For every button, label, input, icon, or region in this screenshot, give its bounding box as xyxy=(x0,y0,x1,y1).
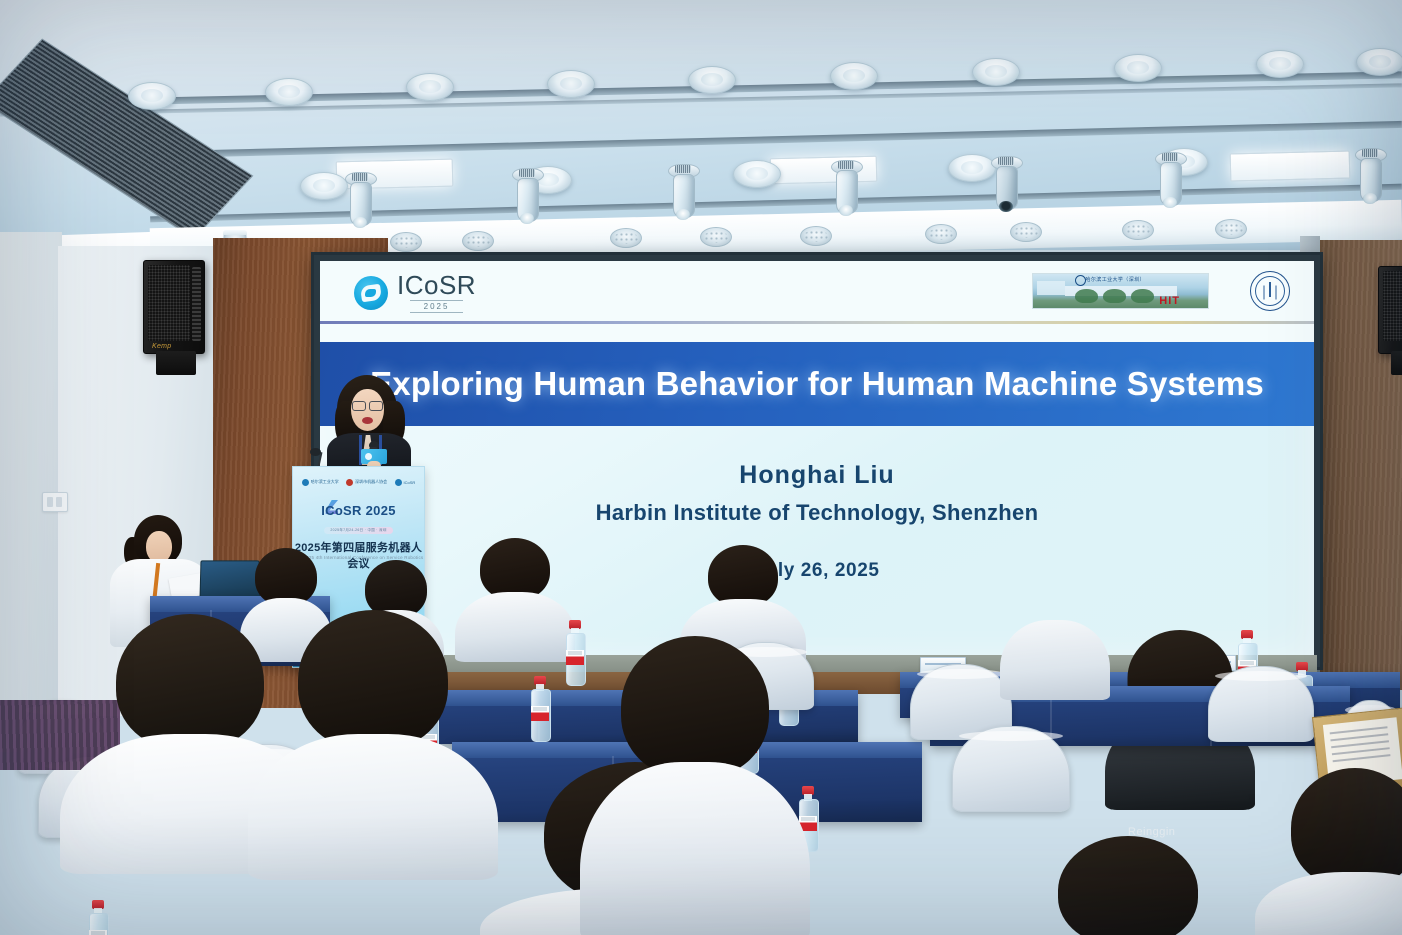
ceiling-speaker-icon xyxy=(1010,222,1042,242)
audience-person xyxy=(1008,836,1248,935)
microphone-icon xyxy=(310,448,321,456)
ceiling-speaker-icon xyxy=(462,231,494,251)
podium-logo-row: 哈尔滨工业大学 深圳市机器人协会 ICoSR xyxy=(298,475,419,489)
track-spotlight-icon xyxy=(991,156,1021,214)
downlight-icon xyxy=(972,58,1020,86)
chair-icon xyxy=(1208,666,1314,742)
downlight-icon xyxy=(830,62,878,90)
ceiling-speaker-icon xyxy=(925,224,957,244)
track-spotlight-icon xyxy=(345,172,375,230)
wall-speaker-left: Kemp xyxy=(143,260,205,354)
ceiling-speaker-icon xyxy=(700,227,732,247)
water-bottle-icon xyxy=(88,900,108,935)
podium-logo-item: 哈尔滨工业大学 xyxy=(302,479,339,486)
audience-person xyxy=(248,610,498,870)
track-spotlight-icon xyxy=(1155,152,1185,210)
icosr-logo-name: ICoSR xyxy=(397,272,476,298)
campus-banner-cn: 哈尔滨工业大学（深圳） xyxy=(1086,276,1145,283)
podium-logo-label: 哈尔滨工业大学 xyxy=(311,479,339,485)
ceiling-speaker-icon xyxy=(800,226,832,246)
podium-logo-item: ICoSR xyxy=(395,479,416,486)
downlight-icon xyxy=(733,160,781,188)
speaker-name: Honghai Liu xyxy=(320,461,1314,490)
slide-title-band: Exploring Human Behavior for Human Machi… xyxy=(320,342,1314,426)
icosr-logo-year: 2025 xyxy=(410,300,464,313)
slide-header-gap xyxy=(320,324,1314,342)
speaker-brand-label: Kemp xyxy=(152,343,172,350)
ceiling-speaker-icon xyxy=(1122,220,1154,240)
downlight-icon xyxy=(1356,48,1402,76)
downlight-icon xyxy=(300,172,348,200)
downlight-icon xyxy=(948,154,996,182)
track-spotlight-icon xyxy=(512,168,542,226)
conference-hall-photo: Kemp ICoSR 2025 xyxy=(0,0,1402,935)
audience-person xyxy=(1000,610,1110,700)
downlight-icon xyxy=(1256,50,1304,78)
podium-logo-label: ICoSR xyxy=(404,480,416,485)
downlight-icon xyxy=(688,66,736,94)
ceiling-speaker-icon xyxy=(1215,219,1247,239)
downlight-icon xyxy=(1114,54,1162,82)
podium-logo-label: 深圳市机器人协会 xyxy=(355,479,387,485)
podium-logo-item: 深圳市机器人协会 xyxy=(346,479,387,486)
glasses-icon xyxy=(352,401,383,409)
speaker-affiliation: Harbin Institute of Technology, Shenzhen xyxy=(320,500,1314,526)
track-spotlight-icon xyxy=(831,160,861,218)
track-spotlight-icon xyxy=(1355,148,1385,206)
podium-event-name: ICoSR 2025 xyxy=(293,503,424,518)
chair-icon xyxy=(952,726,1070,812)
downlight-icon xyxy=(406,73,454,101)
wall-speaker-right xyxy=(1378,266,1402,354)
downlight-icon xyxy=(128,82,176,110)
campus-photo-banner: 哈尔滨工业大学（深圳） HIT xyxy=(1032,273,1209,309)
light-switch-icon[interactable] xyxy=(42,492,68,512)
icosr-logo-icon xyxy=(354,276,388,310)
ceiling-speaker-icon xyxy=(390,232,422,252)
icosr-logo: ICoSR 2025 xyxy=(354,272,476,313)
podium-event-block: ICoSR 2025 2025年7月24-26日 · 中国 · 深圳 xyxy=(293,503,424,536)
panel-light xyxy=(1230,151,1351,182)
campus-banner-mark: HIT xyxy=(1159,295,1180,307)
slide-title: Exploring Human Behavior for Human Machi… xyxy=(370,365,1264,403)
downlight-icon xyxy=(547,70,595,98)
podium-event-sub: 2025年7月24-26日 · 中国 · 深圳 xyxy=(324,527,392,534)
ceiling-speaker-icon xyxy=(610,228,642,248)
water-bottle-icon xyxy=(530,676,550,740)
university-seal-icon xyxy=(1250,271,1290,311)
audience-person xyxy=(1255,768,1402,935)
downlight-icon xyxy=(265,78,313,106)
audience-person xyxy=(580,636,810,935)
track-spotlight-icon xyxy=(668,164,698,222)
